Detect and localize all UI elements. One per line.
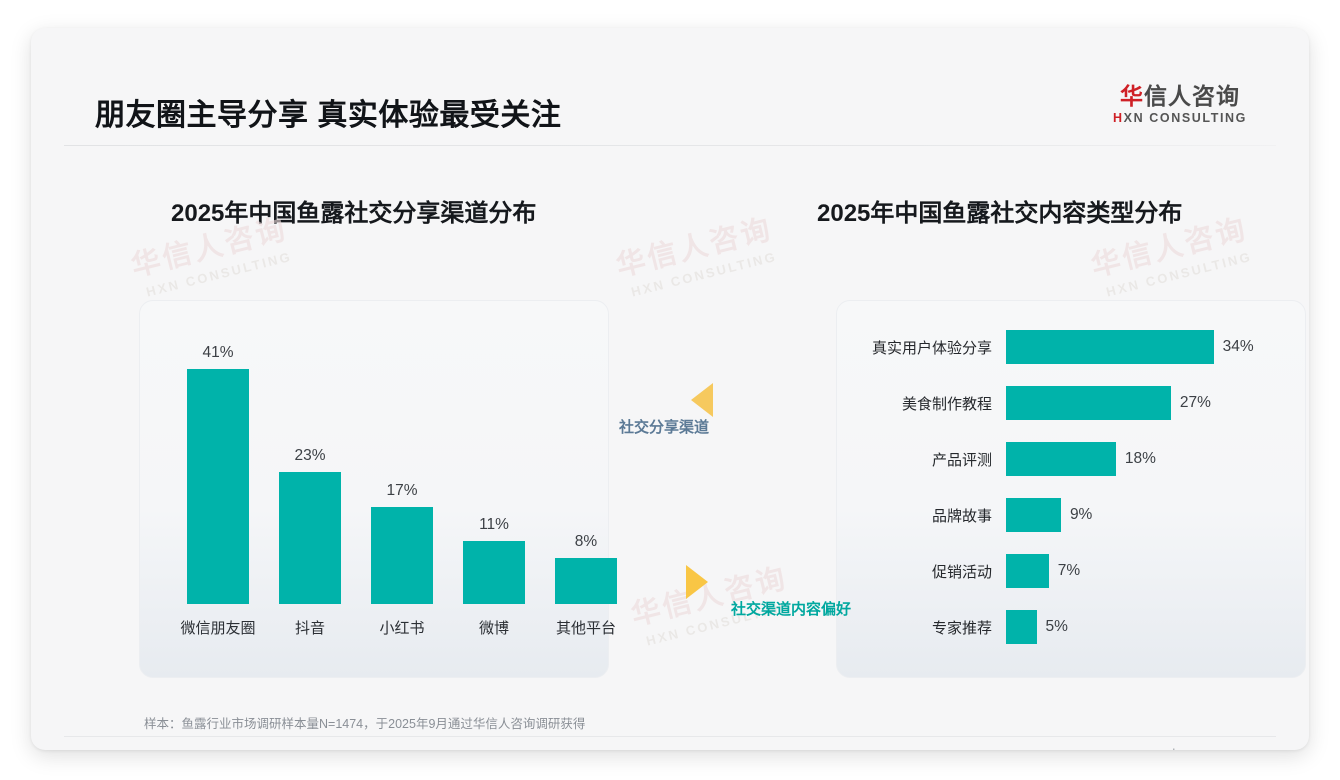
slide-header: 朋友圈主导分享 真实体验最受关注 华信人咨询 HXN CONSULTING: [31, 28, 1309, 122]
bar[interactable]: [1006, 442, 1116, 476]
logo-h-character: H: [1113, 111, 1124, 125]
triangle-right-icon: [686, 565, 708, 599]
bar[interactable]: [1006, 386, 1171, 420]
bar-row: 产品评测18%: [846, 442, 1156, 476]
triangle-left-icon: [691, 383, 713, 417]
bar-category-label: 美食制作教程: [846, 393, 1006, 414]
bar-value-label: 5%: [1037, 618, 1068, 636]
bar-row: 促销活动7%: [846, 554, 1080, 588]
watermark-cn: 华信人咨询: [626, 555, 791, 634]
bar-category-label: 品牌故事: [846, 505, 1006, 526]
social-share-channel-bar-chart: 41%微信朋友圈23%抖音17%小红书11%微博8%其他平台: [139, 300, 609, 678]
bar-category-label: 专家推荐: [846, 617, 1006, 638]
bar-category-label: 真实用户体验分享: [846, 337, 1006, 358]
bar-row: 专家推荐5%: [846, 610, 1068, 644]
right-chart-title: 2025年中国鱼露社交内容类型分布: [817, 193, 1182, 228]
bar-column: 17%小红书: [371, 482, 433, 604]
logo-hua-character: 华: [1120, 83, 1144, 109]
bar[interactable]: [1006, 610, 1037, 644]
watermark-cn: 华信人咨询: [611, 206, 776, 285]
bar-category-label: 微博: [479, 617, 509, 638]
bar-value-label: 23%: [294, 447, 325, 465]
bar-category-label: 产品评测: [846, 449, 1006, 470]
bar-column: 8%其他平台: [555, 533, 617, 604]
logo-chinese-text: 华信人咨询: [1113, 84, 1247, 108]
logo-chinese-rest: 信人咨询: [1144, 83, 1240, 109]
page-title: 朋友圈主导分享 真实体验最受关注: [95, 90, 561, 134]
left-chart-title: 2025年中国鱼露社交分享渠道分布: [171, 193, 536, 228]
middle-label-share-channel: 社交分享渠道: [619, 416, 709, 437]
website-url: www.hxrcon.com: [1143, 747, 1237, 750]
bar-value-label: 11%: [479, 516, 509, 534]
header-divider: [64, 145, 1276, 146]
bar-row: 美食制作教程27%: [846, 386, 1211, 420]
bar-category-label: 促销活动: [846, 561, 1006, 582]
bar-category-label: 微信朋友圈: [181, 617, 256, 638]
watermark-en: HXN CONSULTING: [145, 248, 296, 299]
bar-row: 真实用户体验分享34%: [846, 330, 1254, 364]
bar-value-label: 8%: [575, 533, 597, 551]
slide-canvas: 朋友圈主导分享 真实体验最受关注 华信人咨询 HXN CONSULTING 20…: [31, 28, 1309, 750]
watermark-en: HXN CONSULTING: [630, 248, 781, 299]
bar-value-label: 27%: [1171, 394, 1211, 412]
bar-row: 品牌故事9%: [846, 498, 1092, 532]
bar-value-label: 41%: [202, 344, 233, 362]
footer-divider: [64, 736, 1276, 737]
bar-value-label: 18%: [1116, 450, 1156, 468]
bar-category-label: 抖音: [295, 617, 325, 638]
bar-column: 11%微博: [463, 516, 525, 604]
copyright-text: ©2025.11 HXR华信人咨询: [101, 747, 247, 750]
brand-logo: 华信人咨询 HXN CONSULTING: [1113, 84, 1247, 125]
bar[interactable]: [371, 507, 433, 604]
watermark-en: HXN CONSULTING: [1105, 248, 1256, 299]
middle-label-content-preference: 社交渠道内容偏好: [731, 598, 851, 619]
bar-column: 23%抖音: [279, 447, 341, 604]
bar[interactable]: [187, 369, 249, 604]
bar[interactable]: [279, 472, 341, 604]
bar-value-label: 34%: [1214, 338, 1254, 356]
bar[interactable]: [555, 558, 617, 604]
logo-english-rest: XN CONSULTING: [1124, 111, 1247, 125]
bar-value-label: 9%: [1061, 506, 1092, 524]
bar[interactable]: [1006, 330, 1214, 364]
logo-english-text: HXN CONSULTING: [1113, 111, 1247, 125]
bar-value-label: 7%: [1049, 562, 1080, 580]
bar[interactable]: [1006, 498, 1061, 532]
sample-footnote: 样本：鱼露行业市场调研样本量N=1474，于2025年9月通过华信人咨询调研获得: [144, 713, 585, 732]
bar-category-label: 小红书: [379, 617, 424, 638]
bar[interactable]: [463, 541, 525, 604]
bar-category-label: 其他平台: [556, 617, 616, 638]
bar[interactable]: [1006, 554, 1049, 588]
watermark: 华信人咨询 HXN CONSULTING: [611, 206, 781, 302]
bar-value-label: 17%: [386, 482, 417, 500]
bar-column: 41%微信朋友圈: [187, 344, 249, 604]
